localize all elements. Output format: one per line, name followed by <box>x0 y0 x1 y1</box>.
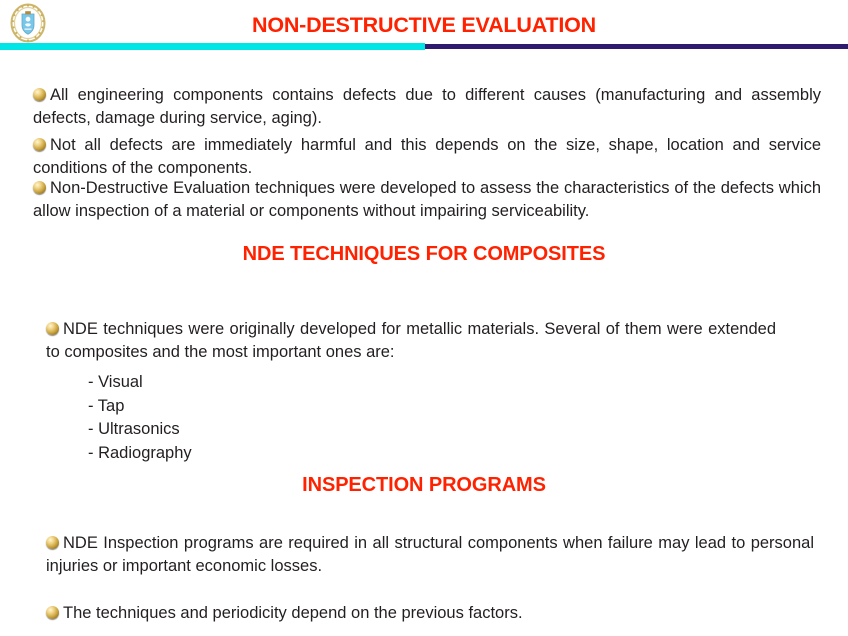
inspection-bullet-2-text: The techniques and periodicity depend on… <box>63 604 523 622</box>
header-divider <box>0 43 848 51</box>
nde-techniques-intro-bullet: NDE techniques were originally developed… <box>46 318 776 364</box>
divider-segment-purple <box>425 44 848 49</box>
nde-techniques-list: - Visual - Tap - Ultrasonics - Radiograp… <box>88 371 192 465</box>
list-item: - Visual <box>88 371 192 395</box>
gold-sphere-bullet-icon <box>33 181 46 194</box>
gold-sphere-bullet-icon <box>46 606 59 619</box>
page-title: NON-DESTRUCTIVE EVALUATION <box>0 13 848 38</box>
inspection-bullet-1-text: NDE Inspection programs are required in … <box>46 534 814 575</box>
gold-sphere-bullet-icon <box>33 88 46 101</box>
intro-bullet-1-text: All engineering components contains defe… <box>33 86 821 127</box>
list-item: - Radiography <box>88 442 192 466</box>
gold-sphere-bullet-icon <box>33 138 46 151</box>
intro-bullet-3: Non-Destructive Evaluation techniques we… <box>33 177 821 223</box>
intro-bullet-1: All engineering components contains defe… <box>33 84 821 130</box>
gold-sphere-bullet-icon <box>46 536 59 549</box>
intro-bullet-2: Not all defects are immediately harmful … <box>33 134 821 180</box>
list-item: - Tap <box>88 395 192 419</box>
list-item: - Ultrasonics <box>88 418 192 442</box>
intro-bullet-2-text: Not all defects are immediately harmful … <box>33 136 821 177</box>
section-heading-nde-techniques: NDE TECHNIQUES FOR COMPOSITES <box>0 243 848 266</box>
divider-segment-cyan <box>0 43 425 50</box>
inspection-bullet-2: The techniques and periodicity depend on… <box>46 602 814 625</box>
gold-sphere-bullet-icon <box>46 322 59 335</box>
inspection-bullet-1: NDE Inspection programs are required in … <box>46 532 814 578</box>
nde-techniques-intro-text: NDE techniques were originally developed… <box>46 320 776 361</box>
slide-header: NON-DESTRUCTIVE EVALUATION <box>0 0 848 54</box>
section-heading-inspection-programs: INSPECTION PROGRAMS <box>0 474 848 497</box>
intro-bullet-3-text: Non-Destructive Evaluation techniques we… <box>33 179 821 220</box>
